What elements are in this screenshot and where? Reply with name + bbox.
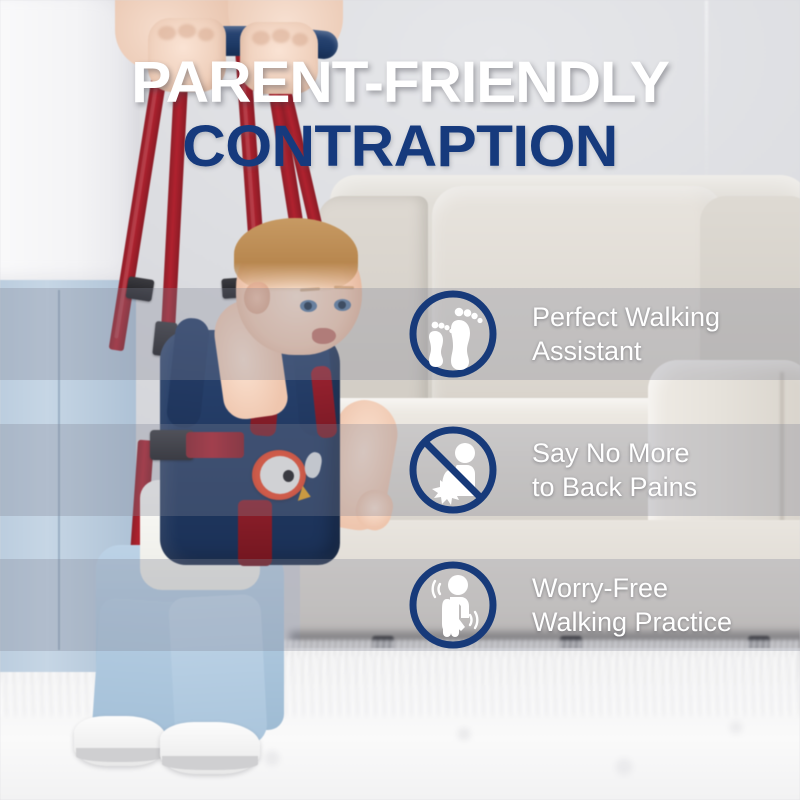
walking-person-icon — [407, 559, 499, 651]
no-back-pain-icon — [407, 424, 499, 516]
feature-label: Worry-Free Walking Practice — [532, 571, 732, 639]
feature-list: Perfect Walking Assistant Say No More to — [0, 0, 800, 800]
feature-label: Perfect Walking Assistant — [532, 300, 720, 368]
feature-label: Say No More to Back Pains — [532, 436, 697, 504]
feature-item-worry-free-walking-practice: Worry-Free Walking Practice — [0, 559, 800, 651]
feature-item-no-back-pains: Say No More to Back Pains — [0, 424, 800, 516]
feature-item-perfect-walking-assistant: Perfect Walking Assistant — [0, 288, 800, 380]
product-marketing-poster: PARENT-FRIENDLY CONTRAPTION — [0, 0, 800, 800]
footprints-icon — [407, 288, 499, 380]
